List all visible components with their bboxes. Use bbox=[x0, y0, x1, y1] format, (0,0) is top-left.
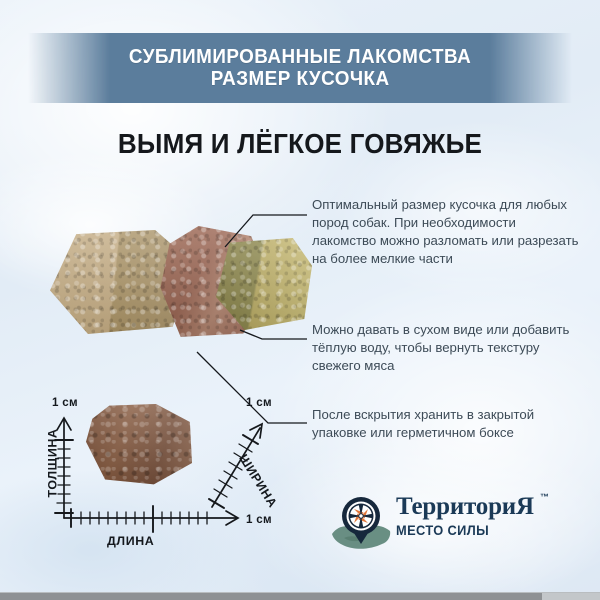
callout-note-1: Оптимальный размер кусочка для любых пор… bbox=[312, 196, 580, 268]
horizontal-scrollbar[interactable] bbox=[0, 592, 600, 600]
width-scale-label: 1 см bbox=[246, 396, 272, 409]
banner-line-2: Размер кусочка bbox=[211, 68, 390, 90]
callout-note-3: После вскрытия хранить в закрытой упаков… bbox=[312, 406, 580, 442]
scrollbar-thumb[interactable] bbox=[542, 593, 600, 600]
length-axis-label: Длина bbox=[107, 534, 154, 548]
thickness-axis-label: Толщина bbox=[45, 429, 59, 498]
thickness-scale-label: 1 см bbox=[52, 396, 78, 409]
product-photo bbox=[48, 212, 298, 347]
page-title: Вымя и лёгкое говяжье bbox=[21, 128, 579, 160]
brand-logo-text: ТерриториЯ™ Место силы bbox=[396, 494, 534, 538]
size-diagram: 1 см 1 см 1 см Толщина Длина Ширина bbox=[24, 382, 304, 560]
banner-line-1: Сублимированные лакомства bbox=[129, 46, 471, 68]
brand-name-text: ТерриториЯ bbox=[396, 493, 534, 520]
trademark-symbol: ™ bbox=[540, 493, 549, 502]
compass-map-pin-icon bbox=[330, 494, 392, 554]
callout-note-2: Можно давать в сухом виде или добавить т… bbox=[312, 321, 580, 375]
brand-name: ТерриториЯ™ bbox=[396, 494, 534, 519]
length-scale-label: 1 см bbox=[246, 513, 272, 526]
brand-tagline: Место силы bbox=[396, 523, 527, 538]
header-banner: Сублимированные лакомства Размер кусочка bbox=[28, 33, 572, 103]
poster-canvas: Сублимированные лакомства Размер кусочка… bbox=[0, 0, 600, 600]
brand-logo[interactable]: ТерриториЯ™ Место силы bbox=[330, 494, 530, 556]
